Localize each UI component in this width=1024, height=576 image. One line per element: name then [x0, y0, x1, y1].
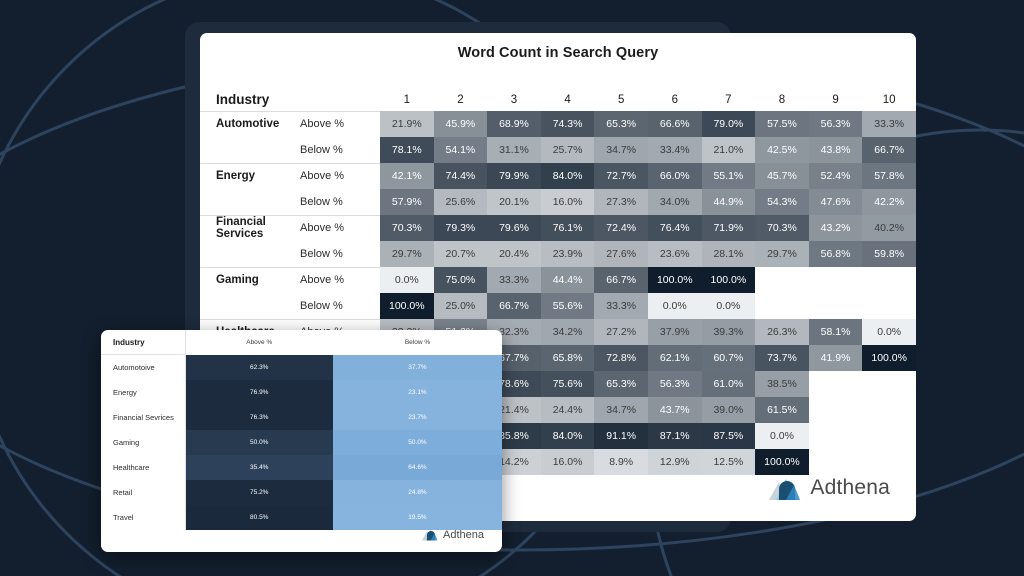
- inset-row: Financial Sevrices76.3%23.7%: [101, 405, 502, 430]
- row-label-metric-below: Below %: [278, 137, 380, 163]
- heatmap-cell: 8.9%: [594, 449, 648, 475]
- heatmap-cell: [862, 449, 916, 475]
- heatmap-cell: [862, 371, 916, 397]
- heatmap-cell: 84.0%: [541, 423, 595, 449]
- inset-table: Industry Above % Below % Automotoive62.3…: [101, 330, 502, 530]
- heatmap-cell: 54.3%: [755, 189, 809, 215]
- adthena-logo-main: Adthena: [767, 473, 890, 503]
- heatmap-cell: 56.3%: [648, 371, 702, 397]
- heatmap-cell: 29.7%: [755, 241, 809, 267]
- inset-cell-above: 75.2%: [185, 480, 333, 505]
- heatmap-cell: 21.9%: [380, 111, 434, 137]
- heatmap-cell: [809, 397, 863, 423]
- heatmap-cell: 12.5%: [702, 449, 756, 475]
- heatmap-cell: 42.5%: [755, 137, 809, 163]
- heatmap-cell: 20.7%: [434, 241, 488, 267]
- heatmap-cell: 34.2%: [541, 319, 595, 345]
- heatmap-cell: 73.7%: [755, 345, 809, 371]
- heatmap-cell: 42.2%: [862, 189, 916, 215]
- heatmap-cell: 76.4%: [648, 215, 702, 241]
- heatmap-cell: 66.7%: [594, 267, 648, 293]
- column-header-10: 10: [862, 66, 916, 111]
- row-label-industry: [200, 241, 278, 267]
- inset-cell-above: 35.4%: [185, 455, 333, 480]
- heatmap-cell: 0.0%: [862, 319, 916, 345]
- heatmap-cell: 16.0%: [541, 449, 595, 475]
- inset-row-label: Healthcare: [101, 455, 185, 480]
- heatmap-cell: 100.0%: [862, 345, 916, 371]
- heatmap-cell: [809, 423, 863, 449]
- table-row: Below %100.0%25.0%66.7%55.6%33.3%0.0%0.0…: [200, 293, 916, 319]
- heatmap-cell: 62.1%: [648, 345, 702, 371]
- table-row: Below %78.1%54.1%31.1%25.7%34.7%33.4%21.…: [200, 137, 916, 163]
- row-label-industry: Automotive: [200, 111, 278, 137]
- heatmap-cell: 76.1%: [541, 215, 595, 241]
- row-label-industry: [200, 293, 278, 319]
- heatmap-cell: 79.6%: [487, 215, 541, 241]
- heatmap-cell: 43.7%: [648, 397, 702, 423]
- row-label-metric-above: Above %: [278, 267, 380, 293]
- row-label-industry: [200, 137, 278, 163]
- heatmap-cell: [809, 449, 863, 475]
- heatmap-cell: 72.8%: [594, 345, 648, 371]
- column-header-industry: Industry: [200, 66, 278, 111]
- heatmap-cell: 100.0%: [380, 293, 434, 319]
- heatmap-cell: 38.5%: [755, 371, 809, 397]
- heatmap-cell: 74.3%: [541, 111, 595, 137]
- row-label-industry: [200, 189, 278, 215]
- heatmap-cell: 66.0%: [648, 163, 702, 189]
- table-row: Below %29.7%20.7%20.4%23.9%27.6%23.6%28.…: [200, 241, 916, 267]
- heatmap-cell: 0.0%: [755, 423, 809, 449]
- heatmap-cell: 23.6%: [648, 241, 702, 267]
- heatmap-cell: 74.4%: [434, 163, 488, 189]
- inset-cell-above: 62.3%: [185, 355, 333, 381]
- inset-row-label: Gaming: [101, 430, 185, 455]
- heatmap-cell: 16.0%: [541, 189, 595, 215]
- heatmap-cell: 65.3%: [594, 371, 648, 397]
- heatmap-cell: 57.9%: [380, 189, 434, 215]
- heatmap-cell: 79.0%: [702, 111, 756, 137]
- heatmap-cell: 43.8%: [809, 137, 863, 163]
- heatmap-cell: 45.9%: [434, 111, 488, 137]
- inset-cell-below: 50.0%: [333, 430, 502, 455]
- inset-cell-above: 76.9%: [185, 380, 333, 405]
- heatmap-cell: 75.0%: [434, 267, 488, 293]
- row-label-industry: Financial Services: [200, 215, 278, 241]
- inset-cell-below: 23.7%: [333, 405, 502, 430]
- heatmap-cell: 65.8%: [541, 345, 595, 371]
- heatmap-cell: 25.0%: [434, 293, 488, 319]
- inset-row-label: Retail: [101, 480, 185, 505]
- heatmap-cell: 47.6%: [809, 189, 863, 215]
- table-row: EnergyAbove %42.1%74.4%79.9%84.0%72.7%66…: [200, 163, 916, 189]
- heatmap-cell: 61.0%: [702, 371, 756, 397]
- inset-table-head: Industry Above % Below %: [101, 330, 502, 355]
- heatmap-cell: 33.3%: [487, 267, 541, 293]
- heatmap-cell: 70.3%: [380, 215, 434, 241]
- heatmap-cell: 100.0%: [702, 267, 756, 293]
- heatmap-cell: 57.8%: [862, 163, 916, 189]
- row-label-metric-below: Below %: [278, 241, 380, 267]
- inset-row-label: Energy: [101, 380, 185, 405]
- heatmap-cell: 20.4%: [487, 241, 541, 267]
- row-label-industry: Energy: [200, 163, 278, 189]
- heatmap-cell: [809, 371, 863, 397]
- heatmap-cell: 40.2%: [862, 215, 916, 241]
- heatmap-cell: 70.3%: [755, 215, 809, 241]
- inset-cell-below: 64.6%: [333, 455, 502, 480]
- table-row: AutomotiveAbove %21.9%45.9%68.9%74.3%65.…: [200, 111, 916, 137]
- column-header-5: 5: [594, 66, 648, 111]
- inset-row: Automotoive62.3%37.7%: [101, 355, 502, 381]
- page-title: Word Count in Search Query: [200, 45, 916, 61]
- row-label-metric-above: Above %: [278, 111, 380, 137]
- heatmap-cell: [862, 293, 916, 319]
- row-label-metric-below: Below %: [278, 293, 380, 319]
- inset-row-label: Travel: [101, 505, 185, 530]
- inset-row: Healthcare35.4%64.6%: [101, 455, 502, 480]
- adthena-mark-icon: [421, 527, 438, 542]
- heatmap-cell: 66.7%: [862, 137, 916, 163]
- heatmap-cell: 42.1%: [380, 163, 434, 189]
- heatmap-cell: 52.4%: [809, 163, 863, 189]
- column-header-8: 8: [755, 66, 809, 111]
- table-row: GamingAbove %0.0%75.0%33.3%44.4%66.7%100…: [200, 267, 916, 293]
- heatmap-cell: 84.0%: [541, 163, 595, 189]
- heatmap-cell: 33.4%: [648, 137, 702, 163]
- heatmap-cell: 20.1%: [487, 189, 541, 215]
- row-label-metric-above: Above %: [278, 163, 380, 189]
- adthena-logo-inset: Adthena: [421, 527, 484, 542]
- heatmap-cell: 27.3%: [594, 189, 648, 215]
- adthena-wordmark: Adthena: [810, 476, 890, 500]
- heatmap-cell: 55.1%: [702, 163, 756, 189]
- heatmap-cell: 29.7%: [380, 241, 434, 267]
- heatmap-cell: 27.6%: [594, 241, 648, 267]
- heatmap-cell: 28.1%: [702, 241, 756, 267]
- heatmap-cell: 68.9%: [487, 111, 541, 137]
- heatmap-cell: 21.0%: [702, 137, 756, 163]
- heatmap-cell: 34.0%: [648, 189, 702, 215]
- heatmap-cell: 66.7%: [487, 293, 541, 319]
- inset-row: Gaming50.0%50.0%: [101, 430, 502, 455]
- heatmap-cell: 37.9%: [648, 319, 702, 345]
- row-label-industry: Gaming: [200, 267, 278, 293]
- heatmap-cell: 55.6%: [541, 293, 595, 319]
- column-header-2: 2: [434, 66, 488, 111]
- inset-cell-below: 37.7%: [333, 355, 502, 381]
- inset-header-row: Industry Above % Below %: [101, 330, 502, 355]
- heatmap-cell: 60.7%: [702, 345, 756, 371]
- inset-table-body: Automotoive62.3%37.7%Energy76.9%23.1%Fin…: [101, 355, 502, 531]
- heatmap-cell: [755, 267, 809, 293]
- table-head: Industry 12345678910: [200, 66, 916, 111]
- heatmap-cell: [862, 397, 916, 423]
- inset-row-label: Automotoive: [101, 355, 185, 381]
- inset-cell-above: 76.3%: [185, 405, 333, 430]
- column-header-1: 1: [380, 66, 434, 111]
- heatmap-cell: 27.2%: [594, 319, 648, 345]
- table-row: Financial ServicesAbove %70.3%79.3%79.6%…: [200, 215, 916, 241]
- inset-summary-card: Industry Above % Below % Automotoive62.3…: [101, 330, 502, 552]
- column-header-6: 6: [648, 66, 702, 111]
- heatmap-cell: 0.0%: [380, 267, 434, 293]
- table-row: Below %57.9%25.6%20.1%16.0%27.3%34.0%44.…: [200, 189, 916, 215]
- heatmap-cell: 24.4%: [541, 397, 595, 423]
- inset-column-header-below: Below %: [333, 330, 502, 355]
- heatmap-cell: 39.0%: [702, 397, 756, 423]
- heatmap-cell: 0.0%: [702, 293, 756, 319]
- heatmap-cell: 100.0%: [755, 449, 809, 475]
- heatmap-cell: 41.9%: [809, 345, 863, 371]
- inset-row: Retail75.2%24.8%: [101, 480, 502, 505]
- heatmap-cell: 44.9%: [702, 189, 756, 215]
- column-header-9: 9: [809, 66, 863, 111]
- inset-cell-above: 50.0%: [185, 430, 333, 455]
- heatmap-cell: 25.7%: [541, 137, 595, 163]
- heatmap-cell: [862, 267, 916, 293]
- heatmap-cell: 79.9%: [487, 163, 541, 189]
- heatmap-cell: 87.5%: [702, 423, 756, 449]
- heatmap-cell: [809, 293, 863, 319]
- inset-cell-above: 80.5%: [185, 505, 333, 530]
- heatmap-cell: 39.3%: [702, 319, 756, 345]
- heatmap-cell: 56.3%: [809, 111, 863, 137]
- heatmap-cell: 91.1%: [594, 423, 648, 449]
- heatmap-cell: 71.9%: [702, 215, 756, 241]
- inset-column-header-above: Above %: [185, 330, 333, 355]
- heatmap-cell: 57.5%: [755, 111, 809, 137]
- inset-cell-below: 24.8%: [333, 480, 502, 505]
- column-header-3: 3: [487, 66, 541, 111]
- row-label-metric-above: Above %: [278, 215, 380, 241]
- column-header-4: 4: [541, 66, 595, 111]
- inset-column-header-industry: Industry: [101, 330, 185, 355]
- heatmap-cell: [755, 293, 809, 319]
- heatmap-cell: 0.0%: [648, 293, 702, 319]
- heatmap-cell: 34.7%: [594, 137, 648, 163]
- heatmap-cell: 23.9%: [541, 241, 595, 267]
- heatmap-cell: 78.1%: [380, 137, 434, 163]
- heatmap-cell: 26.3%: [755, 319, 809, 345]
- heatmap-cell: 33.3%: [862, 111, 916, 137]
- heatmap-cell: 72.7%: [594, 163, 648, 189]
- heatmap-cell: 34.7%: [594, 397, 648, 423]
- inset-row: Energy76.9%23.1%: [101, 380, 502, 405]
- heatmap-cell: 59.8%: [862, 241, 916, 267]
- heatmap-cell: 25.6%: [434, 189, 488, 215]
- heatmap-cell: 75.6%: [541, 371, 595, 397]
- adthena-wordmark: Adthena: [443, 529, 484, 541]
- inset-cell-below: 23.1%: [333, 380, 502, 405]
- column-header-metric: [278, 66, 380, 111]
- column-header-7: 7: [702, 66, 756, 111]
- heatmap-cell: 54.1%: [434, 137, 488, 163]
- heatmap-cell: 56.8%: [809, 241, 863, 267]
- row-label-metric-below: Below %: [278, 189, 380, 215]
- heatmap-cell: 100.0%: [648, 267, 702, 293]
- heatmap-cell: 12.9%: [648, 449, 702, 475]
- heatmap-cell: 72.4%: [594, 215, 648, 241]
- heatmap-cell: 33.3%: [594, 293, 648, 319]
- heatmap-cell: 65.3%: [594, 111, 648, 137]
- heatmap-cell: 31.1%: [487, 137, 541, 163]
- header-row: Industry 12345678910: [200, 66, 916, 111]
- heatmap-cell: 61.5%: [755, 397, 809, 423]
- heatmap-cell: [862, 423, 916, 449]
- inset-row-label: Financial Sevrices: [101, 405, 185, 430]
- adthena-mark-icon: [767, 473, 801, 503]
- heatmap-cell: 58.1%: [809, 319, 863, 345]
- heatmap-cell: 45.7%: [755, 163, 809, 189]
- heatmap-cell: 44.4%: [541, 267, 595, 293]
- heatmap-cell: 79.3%: [434, 215, 488, 241]
- heatmap-cell: 66.6%: [648, 111, 702, 137]
- heatmap-cell: 87.1%: [648, 423, 702, 449]
- heatmap-cell: 43.2%: [809, 215, 863, 241]
- heatmap-cell: [809, 267, 863, 293]
